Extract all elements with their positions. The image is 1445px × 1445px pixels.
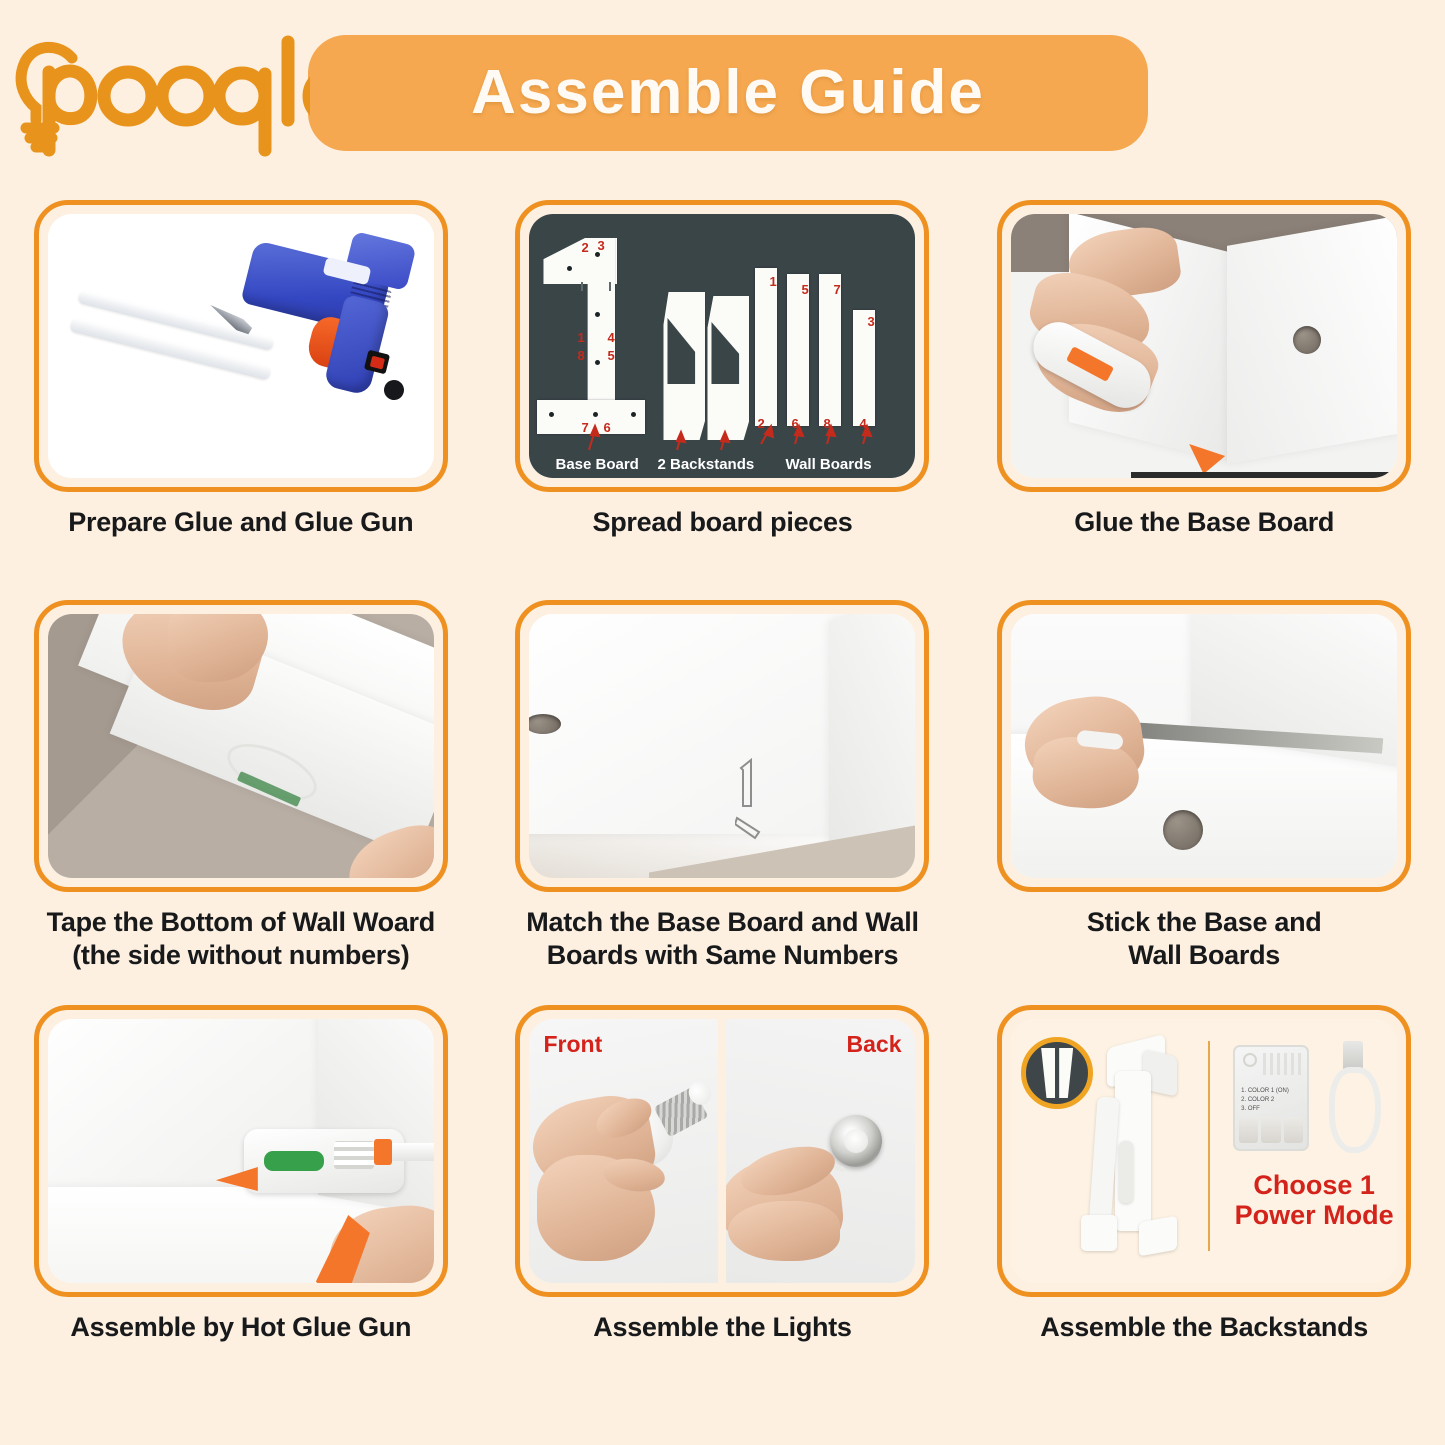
caption-line-1: Prepare Glue and Glue Gun (68, 507, 413, 537)
power-note-line-1: Choose 1 (1219, 1171, 1397, 1201)
step-card-2: 2 3 1 4 8 5 7 6 (482, 200, 964, 600)
caption-line-1: Stick the Base and (1087, 907, 1322, 937)
step-image-frame-9: 1. COLOR 1 (ON) 2. COLOR 2 3. OFF Choose… (997, 1005, 1411, 1297)
battery-mode-line-2: 2. COLOR 2 (1241, 1096, 1289, 1105)
hand-gluing-base-board-photo (1011, 214, 1397, 478)
caption-line-1: Match the Base Board and Wall (526, 907, 918, 937)
step-image-frame-4 (34, 600, 448, 892)
board-number-match-closeup-photo (529, 614, 915, 878)
brand-logo (0, 18, 310, 168)
step-caption-4: Tape the Bottom of Wall Woard (the side … (26, 906, 456, 972)
step-caption-5: Match the Base Board and Wall Boards wit… (507, 906, 937, 972)
steps-grid: Prepare Glue and Glue Gun (0, 200, 1445, 1405)
step-card-5: Match the Base Board and Wall Boards wit… (482, 600, 964, 1005)
step-caption-9: Assemble the Backstands (989, 1311, 1419, 1344)
caption-line-1: Spread board pieces (593, 507, 853, 537)
caption-line-2: Boards with Same Numbers (507, 939, 937, 972)
bulb-front-and-back-photo: Front Back (529, 1019, 915, 1283)
caption-line-1: Tape the Bottom of Wall Woard (47, 907, 435, 937)
power-mode-note: Choose 1 Power Mode (1219, 1171, 1397, 1230)
hands-taping-wall-board-photo (48, 614, 434, 878)
step-caption-7: Assemble by Hot Glue Gun (26, 1311, 456, 1344)
battery-mode-line-1: 1. COLOR 1 (ON) (1241, 1087, 1289, 1096)
group-label-backstands: 2 Backstands (657, 456, 754, 473)
step-card-4: Tape the Bottom of Wall Woard (the side … (0, 600, 482, 1005)
step-caption-8: Assemble the Lights (507, 1311, 937, 1344)
backstands-and-power-photo: 1. COLOR 1 (ON) 2. COLOR 2 3. OFF Choose… (1011, 1019, 1397, 1283)
hand-sticking-boards-photo (1011, 614, 1397, 878)
lightbulb-icon (10, 28, 310, 158)
step-card-9: 1. COLOR 1 (ON) 2. COLOR 2 3. OFF Choose… (963, 1005, 1445, 1405)
white-hot-glue-gun-in-use-photo (48, 1019, 434, 1283)
blue-glue-gun-icon (48, 214, 434, 478)
step-image-frame-2: 2 3 1 4 8 5 7 6 (515, 200, 929, 492)
step-image-frame-3 (997, 200, 1411, 492)
group-label-base-board: Base Board (555, 456, 638, 473)
step-card-1: Prepare Glue and Glue Gun (0, 200, 482, 600)
step-card-6: Stick the Base and Wall Boards (963, 600, 1445, 1005)
battery-mode-list: 1. COLOR 1 (ON) 2. COLOR 2 3. OFF (1241, 1087, 1289, 1114)
step-image-frame-7 (34, 1005, 448, 1297)
battery-box: 1. COLOR 1 (ON) 2. COLOR 2 3. OFF (1233, 1045, 1309, 1151)
pointer-arrows-icon (529, 214, 915, 478)
caption-line-2: (the side without numbers) (26, 939, 456, 972)
page-header: Assemble Guide (0, 0, 1445, 185)
section-divider (1208, 1041, 1210, 1251)
power-note-line-2: Power Mode (1219, 1201, 1397, 1231)
caption-line-1: Assemble by Hot Glue Gun (70, 1312, 411, 1342)
caption-line-2: Wall Boards (989, 939, 1419, 972)
step-caption-2: Spread board pieces (507, 506, 937, 539)
step-image-frame-5 (515, 600, 929, 892)
step-caption-1: Prepare Glue and Glue Gun (26, 506, 456, 539)
number-one-marking-icon (735, 754, 777, 844)
step-image-frame-1 (34, 200, 448, 492)
step-card-8: Front Back (482, 1005, 964, 1405)
step-caption-6: Stick the Base and Wall Boards (989, 906, 1419, 972)
group-label-wall-boards: Wall Boards (785, 456, 871, 473)
front-sub-photo: Front (529, 1019, 718, 1283)
step-card-7: Assemble by Hot Glue Gun (0, 1005, 482, 1405)
front-label: Front (543, 1031, 602, 1058)
caption-line-1: Assemble the Backstands (1040, 1312, 1368, 1342)
assemble-guide-page: Assemble Guide (0, 0, 1445, 1445)
board-pieces-diagram: 2 3 1 4 8 5 7 6 (529, 214, 915, 478)
step-card-3: Glue the Base Board (963, 200, 1445, 600)
back-label: Back (847, 1031, 902, 1058)
backstand-pieces-icon (1021, 1037, 1093, 1109)
page-title: Assemble Guide (471, 57, 985, 128)
step-image-frame-8: Front Back (515, 1005, 929, 1297)
step-caption-3: Glue the Base Board (989, 506, 1419, 539)
page-title-banner: Assemble Guide (308, 35, 1148, 151)
step-image-frame-6 (997, 600, 1411, 892)
caption-line-1: Assemble the Lights (593, 1312, 851, 1342)
usb-cable-icon (1329, 1067, 1381, 1153)
battery-mode-line-3: 3. OFF (1241, 1105, 1289, 1114)
back-sub-photo: Back (726, 1019, 915, 1283)
caption-line-1: Glue the Base Board (1074, 507, 1334, 537)
